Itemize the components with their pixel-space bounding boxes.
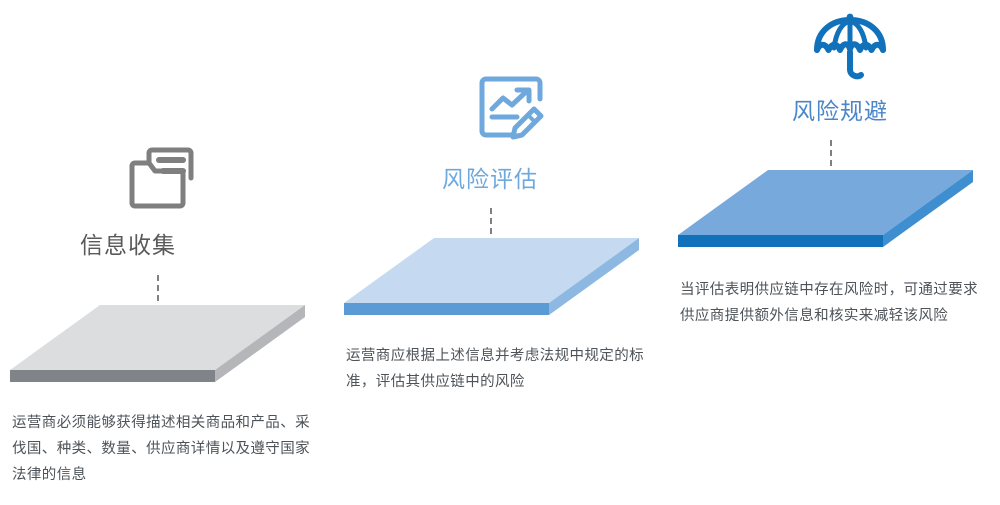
step-2-risk-assessment: 风险评估 运营商应根据上述信息并考虑法规中规定的标准，评估其供应链中的风险 <box>330 0 670 505</box>
step-3-description: 当评估表明供应链中存在风险时，可通过要求供应商提供额外信息和核实来减轻该风险 <box>680 277 980 329</box>
step-3-heading: 风险规避 <box>670 92 1000 126</box>
step-3-platform <box>676 163 976 263</box>
report-chart-edit-icon <box>460 62 560 152</box>
umbrella-icon <box>800 2 900 92</box>
infographic-canvas: 信息收集 运营商必须能够获得描述相关商品和产品、采伐国、种类、数量、供应商详情以… <box>0 0 1000 505</box>
step-1-platform <box>8 298 308 398</box>
step-1-description: 运营商必须能够获得描述相关商品和产品、采伐国、种类、数量、供应商详情以及遵守国家… <box>12 410 312 488</box>
folder-document-icon <box>115 133 215 223</box>
step-1-heading: 信息收集 <box>0 226 298 260</box>
step-1-information-collection: 信息收集 运营商必须能够获得描述相关商品和产品、采伐国、种类、数量、供应商详情以… <box>0 0 340 505</box>
step-2-platform <box>342 231 642 331</box>
step-2-description: 运营商应根据上述信息并考虑法规中规定的标准，评估其供应链中的风险 <box>346 343 646 395</box>
step-2-heading: 风险评估 <box>320 160 660 194</box>
step-3-risk-mitigation: 风险规避 当评估表明供应链中存在风险时，可通过要求供应商提供额外信息和核实来减轻… <box>660 0 1000 505</box>
